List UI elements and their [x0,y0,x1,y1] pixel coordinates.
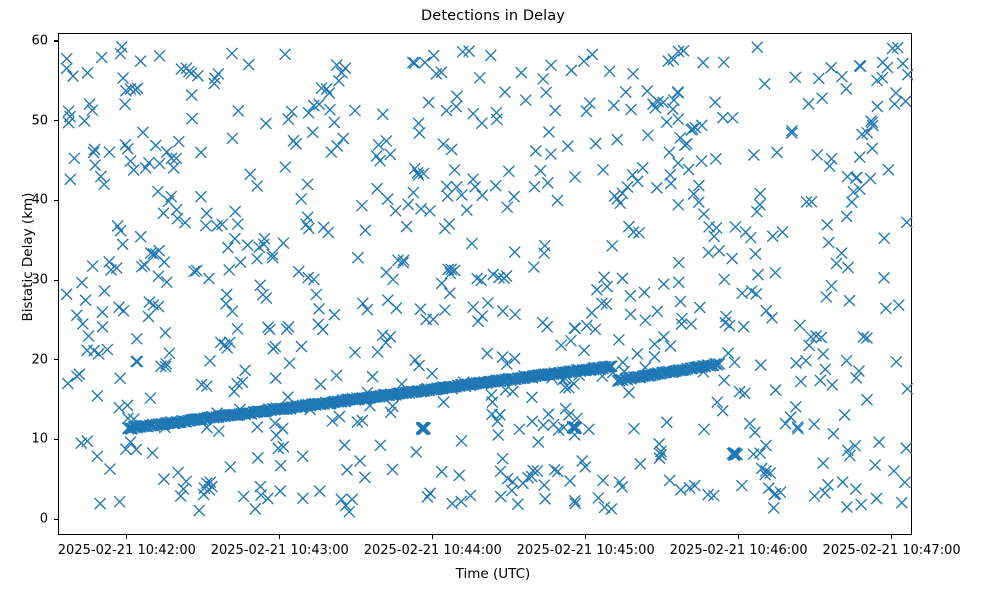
scatter-marker [154,158,165,169]
scatter-marker [114,302,125,313]
scatter-marker [542,321,553,332]
scatter-marker [385,331,396,342]
scatter-marker [844,295,855,306]
scatter-marker [824,161,835,172]
scatter-marker [803,98,814,109]
scatter-marker [841,83,852,94]
scatter-marker [767,231,778,242]
scatter-marker [718,57,729,68]
scatter-marker [104,147,115,158]
scatter-marker [593,492,604,503]
scatter-marker [97,307,108,318]
scatter-marker [427,368,438,379]
scatter-marker [736,480,747,491]
scatter-marker [628,423,639,434]
scatter-marker [854,152,865,163]
scatter-marker [495,491,506,502]
scatter-marker [632,176,643,187]
scatter-marker [334,411,345,422]
scatter-marker [590,138,601,149]
scatter-marker [303,107,314,118]
scatter-marker [625,290,636,301]
scatter-marker [626,104,637,115]
scatter-marker [748,449,759,460]
scatter-marker [748,150,759,161]
scatter-marker [161,277,172,288]
scatter-marker [83,331,94,342]
scatter-marker [883,164,894,175]
scatter-marker [470,181,481,192]
scatter-marker [436,278,447,289]
scatter-marker [826,153,837,164]
scatter-marker [425,488,436,499]
scatter-marker [240,365,251,376]
scatter-marker [238,491,249,502]
scatter-marker [251,253,262,264]
scatter-marker [846,197,857,208]
scatter-marker [899,477,910,488]
scatter-marker [491,114,502,125]
scatter-marker [280,49,291,60]
scatter-marker [456,189,467,200]
scatter-marker [233,105,244,116]
scatter-marker [413,118,424,129]
scatter-marker [881,303,892,314]
scatter-marker [296,341,307,352]
scatter-marker [390,205,401,216]
scatter-marker [527,416,538,427]
scatter-marker [673,257,684,268]
scatter-marker [227,306,238,317]
scatter-marker [523,472,534,483]
scatter-marker [673,277,684,288]
scatter-marker [340,63,351,74]
scatter-marker [828,428,839,439]
scatter-marker [569,171,580,182]
scatter-marker [812,149,823,160]
scatter-marker [826,62,837,73]
scatter-marker [275,460,286,471]
scatter-marker [131,444,142,455]
scatter-marker [786,125,797,136]
x-tick-label: 2025-02-21 10:46:00 [670,543,808,558]
scatter-marker [507,386,518,397]
x-tick-label: 2025-02-21 10:47:00 [823,543,961,558]
scatter-marker [841,211,852,222]
scatter-marker [339,440,350,451]
scatter-marker [818,458,829,469]
scatter-marker [381,267,392,278]
scatter-marker [872,101,883,112]
scatter-marker [640,315,651,326]
scatter-marker [842,171,853,182]
y-tick-label: 0 [40,512,48,527]
scatter-marker [819,487,830,498]
scatter-marker [850,484,861,495]
clutter-points-group [61,41,913,517]
scatter-marker [538,420,549,431]
scatter-marker [770,267,781,278]
scatter-marker [166,191,177,202]
scatter-marker [694,302,705,313]
scatter-marker [526,392,537,403]
scatter-marker [890,87,901,98]
scatter-marker [617,357,628,368]
scatter-marker [438,139,449,150]
scatter-marker [92,390,103,401]
scatter-marker [535,165,546,176]
scatter-marker [350,105,361,116]
scatter-marker [226,48,237,59]
scatter-marker [752,42,763,53]
scatter-marker [493,430,504,441]
scatter-marker [566,65,577,76]
scatter-marker [410,354,421,365]
scatter-marker [871,493,882,504]
scatter-marker [356,200,367,211]
scatter-marker [352,252,363,263]
y-tick-label: 30 [31,273,48,288]
scatter-marker [275,486,286,497]
scatter-marker [387,464,398,475]
scatter-marker [314,303,325,314]
scatter-marker [444,288,455,299]
scatter-marker [542,177,553,188]
scatter-marker [730,221,741,232]
scatter-marker [154,50,165,61]
scatter-marker [623,221,634,232]
scatter-marker [889,99,900,110]
scatter-marker [727,112,738,123]
scatter-marker [578,56,589,67]
feature-cluster-low-c [727,447,743,460]
scatter-marker [698,57,709,68]
scatter-marker [900,96,911,107]
scatter-marker [213,68,224,79]
scatter-marker [533,436,544,447]
scatter-marker [651,182,662,193]
scatter-marker [831,258,842,269]
scatter-marker [120,139,131,150]
scatter-marker [204,355,215,366]
scatter-marker [854,60,865,71]
scatter-marker [221,298,232,309]
scatter-marker [87,261,98,272]
y-tick-label: 60 [31,33,48,48]
scatter-marker [546,60,557,71]
scatter-marker [809,491,820,502]
scatter-marker [897,58,908,69]
scatter-marker [506,485,517,496]
scatter-marker [514,424,525,435]
scatter-marker [509,191,520,202]
scatter-marker [836,71,847,82]
scatter-marker [658,331,669,342]
scatter-marker [120,444,131,455]
scatter-marker [604,66,615,77]
scatter-marker [270,373,281,384]
scatter-marker [530,145,541,156]
scatter-marker [468,302,479,313]
scatter-marker [545,149,556,160]
scatter-marker [780,418,791,429]
scatter-marker [836,248,847,259]
scatter-marker [865,173,876,184]
scatter-marker [785,412,796,423]
scatter-marker [415,304,426,315]
scatter-marker [158,208,169,219]
scatter-marker [826,280,837,291]
scatter-marker [82,67,93,78]
scatter-marker [539,240,550,251]
scatter-marker [587,49,598,60]
scatter-marker [252,452,263,463]
scatter-marker [456,496,467,507]
scatter-marker [613,334,624,345]
scatter-marker [225,461,236,472]
scatter-marker [565,335,576,346]
scatter-marker [195,191,206,202]
scatter-marker [252,421,263,432]
plot-area[interactable] [58,33,912,535]
scatter-marker [760,440,771,451]
y-tick-label: 20 [31,352,48,367]
scatter-marker [229,233,240,244]
scatter-marker [145,393,156,404]
scatter-marker [822,479,833,490]
scatter-marker [97,321,108,332]
scatter-marker [888,465,899,476]
scatter-marker [791,358,802,369]
scatter-marker [143,311,154,322]
scatter-marker [252,180,263,191]
scatter-marker [767,312,778,323]
scatter-marker [821,291,832,302]
scatter-marker [577,456,588,467]
scatter-marker [755,360,766,371]
scatter-marker [896,497,907,508]
scatter-marker [222,242,233,253]
scatter-marker [367,371,378,382]
scatter-marker [879,272,890,283]
scatter-marker [777,227,788,238]
scatter-marker [407,57,418,68]
scatter-marker [327,415,338,426]
scatter-marker [333,75,344,86]
scatter-marker [740,227,751,238]
scatter-marker [686,124,697,135]
scatter-marker [804,340,815,351]
scatter-marker [465,490,476,501]
scatter-marker [473,316,484,327]
scatter-marker [439,305,450,316]
scatter-marker [901,217,912,228]
scatter-marker [297,493,308,504]
scatter-marker [714,245,725,256]
scatter-marker [342,464,353,475]
scatter-marker [232,219,243,230]
scatter-marker [203,273,214,284]
scatter-marker [119,99,130,110]
scatter-marker [468,108,479,119]
scatter-marker [331,370,342,381]
scatter-marker [201,208,212,219]
scatter-marker [135,56,146,67]
scatter-marker [456,435,467,446]
scatter-marker [667,104,678,115]
scatter-marker [181,476,192,487]
scatter-marker [761,305,772,316]
scatter-marker [790,401,801,412]
scatter-marker [428,50,439,61]
scatter-marker [598,475,609,486]
scatter-marker [870,460,881,471]
scatter-marker [116,41,127,52]
scatter-marker [250,503,261,514]
scatter-marker [293,266,304,277]
scatter-marker [324,87,335,98]
scatter-marker [371,150,382,161]
scatter-marker [302,179,313,190]
scatter-marker [509,353,520,364]
scatter-marker [528,262,539,273]
scatter-marker [617,273,628,284]
scatter-marker [768,502,779,513]
scatter-marker [336,494,347,505]
scatter-marker [710,97,721,108]
scatter-marker [194,505,205,516]
scatter-marker [446,144,457,155]
scatter-marker [664,147,675,158]
scatter-marker [357,298,368,309]
scatter-marker [612,134,623,145]
scatter-marker [436,466,447,477]
scatter-marker [302,212,313,223]
scatter-marker [609,190,620,201]
scatter-marker [438,397,449,408]
scatter-marker [284,358,295,369]
scatter-marker [556,340,567,351]
scatter-marker [243,59,254,70]
scatter-marker [809,419,820,430]
scatter-marker [324,104,335,115]
scatter-marker [620,87,631,98]
scatter-marker [485,50,496,61]
scatter-marker [649,339,660,350]
x-axis-label: Time (UTC) [0,566,986,582]
scatter-marker [168,162,179,173]
scatter-marker [841,502,852,513]
scatter-marker [224,264,235,275]
scatter-marker [441,105,452,116]
scatter-marker [482,297,493,308]
scatter-marker [693,197,704,208]
scatter-marker [362,304,373,315]
scatter-marker [755,188,766,199]
scatter-marker [408,187,419,198]
scatter-marker [608,100,619,111]
scatter-marker [599,272,610,283]
scatter-marker [377,109,388,120]
scatter-marker [727,253,738,264]
scatter-marker [229,386,240,397]
scatter-marker [703,247,714,258]
scatter-marker [449,164,460,175]
scatter-marker [699,424,710,435]
scatter-marker [759,78,770,89]
scatter-marker [617,481,628,492]
scatter-marker [474,72,485,83]
scatter-marker [122,400,133,411]
scatter-marker [115,225,126,236]
scatter-marker [488,269,499,280]
scatter-marker [468,174,479,185]
scatter-marker [65,174,76,185]
scatter-marker [837,477,848,488]
scatter-marker [444,219,455,230]
scatter-marker [90,160,101,171]
scatter-marker [623,387,634,398]
scatter-marker [637,162,648,173]
scatter-marker [261,292,272,303]
scatter-marker [62,378,73,389]
scatter-marker [423,97,434,108]
scatter-marker [497,453,508,464]
scatter-marker [579,345,590,356]
scatter-marker [632,348,643,359]
scatter-marker [173,136,184,147]
scatter-marker [661,417,672,428]
scatter-marker [520,95,531,106]
scatter-marker [260,118,271,129]
figure-canvas: Detections in Delay Bistatic Delay (km) … [0,0,986,590]
y-tick-label: 50 [31,113,48,128]
scatter-marker [161,146,172,157]
scatter-marker [562,141,573,152]
scatter-marker [569,421,580,432]
scatter-marker [76,277,87,288]
scatter-marker [818,348,829,359]
scatter-marker [313,319,324,330]
scatter-marker [490,180,501,191]
scatter-marker [227,133,238,144]
scatter-marker [271,430,282,441]
scatter-marker [329,117,340,128]
scatter-marker [92,451,103,462]
scatter-marker [711,222,722,233]
scatter-marker [584,98,595,109]
scatter-marker [115,373,126,384]
scatter-marker [675,296,686,307]
scatter-marker [772,147,783,158]
scatter-marker [652,306,663,317]
scatter-marker [683,164,694,175]
scatter-marker [323,227,334,238]
scatter-marker [539,480,550,491]
scatter-marker [419,57,430,68]
scatter-marker [602,281,613,292]
scatter-marker [499,87,510,98]
scatter-marker [401,221,412,232]
feature-cluster-low-a [416,422,430,435]
scatter-marker [118,73,129,84]
scatter-marker [482,348,493,359]
scatter-marker [649,351,660,362]
scatter-marker [375,440,386,451]
scatter-marker [117,239,128,250]
scatter-marker [841,355,852,366]
scatter-marker [497,352,508,363]
